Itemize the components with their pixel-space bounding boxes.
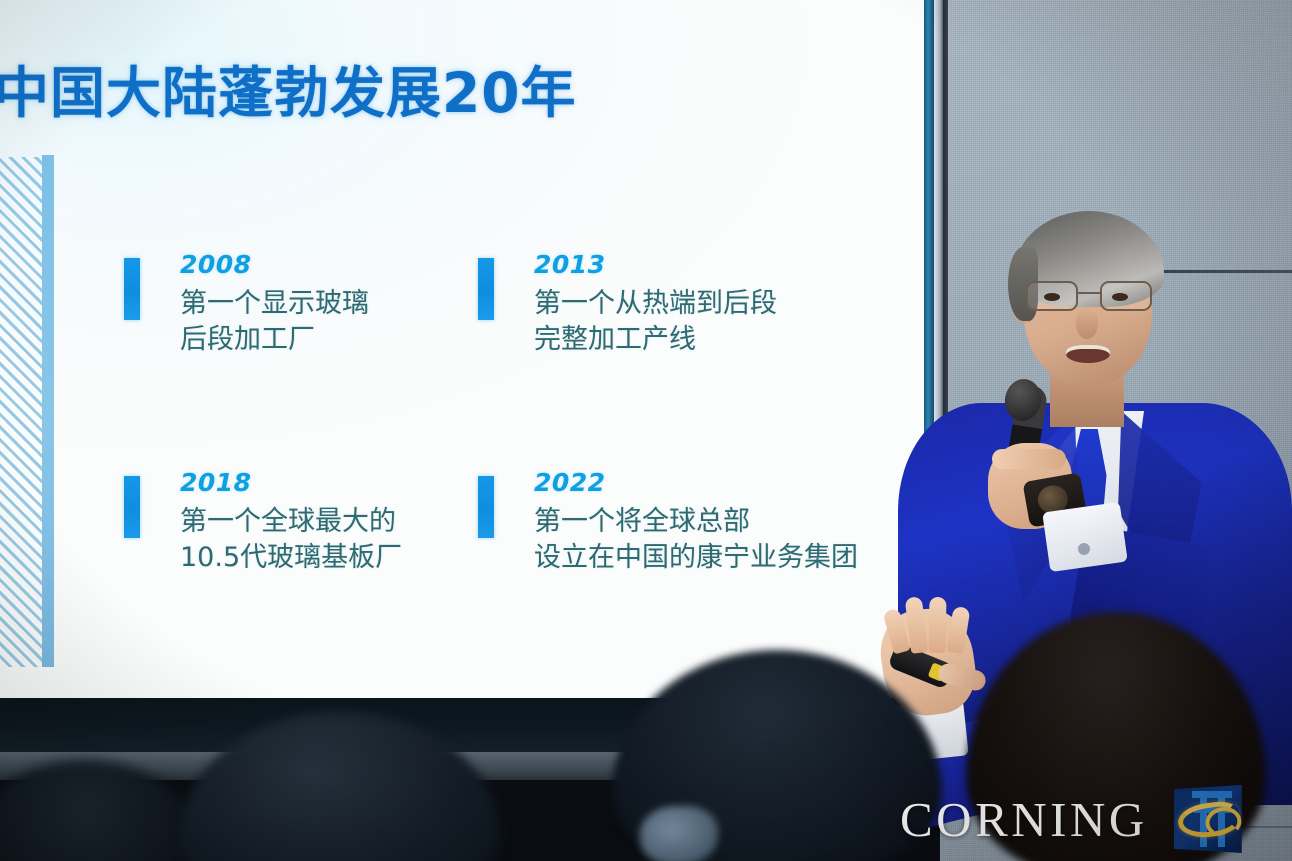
- milestone-text-block: 2022 第一个将全球总部 设立在中国的康宁业务集团: [534, 470, 858, 575]
- corning-watermark: CORNING: [900, 783, 1246, 855]
- milestone-description: 第一个从热端到后段 完整加工产线: [534, 286, 777, 357]
- projection-screen: 中国大陆蓬勃发展20年 2008 第一个显示玻璃 后段加工厂 2013 第一个从…: [0, 0, 941, 700]
- milestone-text-block: 2008 第一个显示玻璃 后段加工厂: [180, 252, 369, 357]
- cufflink-icon: [1078, 543, 1090, 555]
- slide-hatch-decoration: [0, 157, 43, 667]
- milestone-item: 2018 第一个全球最大的 10.5代玻璃基板厂: [124, 470, 402, 575]
- presenter-eye-right: [1112, 293, 1128, 301]
- presenter-mouth: [1066, 345, 1110, 363]
- milestone-description: 第一个将全球总部 设立在中国的康宁业务集团: [534, 504, 858, 575]
- milestone-item: 2013 第一个从热端到后段 完整加工产线: [478, 252, 777, 357]
- presenter-cuff-right: [1042, 502, 1128, 572]
- milestone-description: 第一个显示玻璃 后段加工厂: [180, 286, 369, 357]
- screenshot-stage: 中国大陆蓬勃发展20年 2008 第一个显示玻璃 后段加工厂 2013 第一个从…: [0, 0, 1292, 861]
- bullet-bar-icon: [478, 476, 494, 538]
- milestone-description: 第一个全球最大的 10.5代玻璃基板厂: [180, 504, 402, 575]
- milestone-item: 2008 第一个显示玻璃 后段加工厂: [124, 252, 369, 357]
- milestone-year: 2013: [534, 252, 777, 277]
- milestone-grid: 2008 第一个显示玻璃 后段加工厂 2013 第一个从热端到后段 完整加工产线…: [124, 252, 924, 612]
- presenter-nose: [1076, 309, 1098, 339]
- bullet-bar-icon: [124, 258, 140, 320]
- milestone-year: 2022: [534, 470, 858, 495]
- slide-accent-bar: [42, 155, 54, 667]
- milestone-text-block: 2013 第一个从热端到后段 完整加工产线: [534, 252, 777, 357]
- milestone-item: 2022 第一个将全球总部 设立在中国的康宁业务集团: [478, 470, 858, 575]
- presenter-fingers-microphone: [992, 449, 1066, 469]
- presentation-slide: 中国大陆蓬勃发展20年 2008 第一个显示玻璃 后段加工厂 2013 第一个从…: [0, 0, 941, 700]
- presenter-eye-left: [1044, 293, 1060, 301]
- milestone-year: 2008: [180, 252, 369, 277]
- presenter-fingers-raised: [886, 593, 972, 653]
- milestone-text-block: 2018 第一个全球最大的 10.5代玻璃基板厂: [180, 470, 402, 575]
- milestone-year: 2018: [180, 470, 402, 495]
- bullet-bar-icon: [478, 258, 494, 320]
- corning-wordmark: CORNING: [900, 795, 1148, 844]
- audience-hand: [640, 806, 718, 861]
- bullet-bar-icon: [124, 476, 140, 538]
- slide-title: 中国大陆蓬勃发展20年: [0, 48, 577, 128]
- corning-emblem-icon: [1170, 783, 1246, 855]
